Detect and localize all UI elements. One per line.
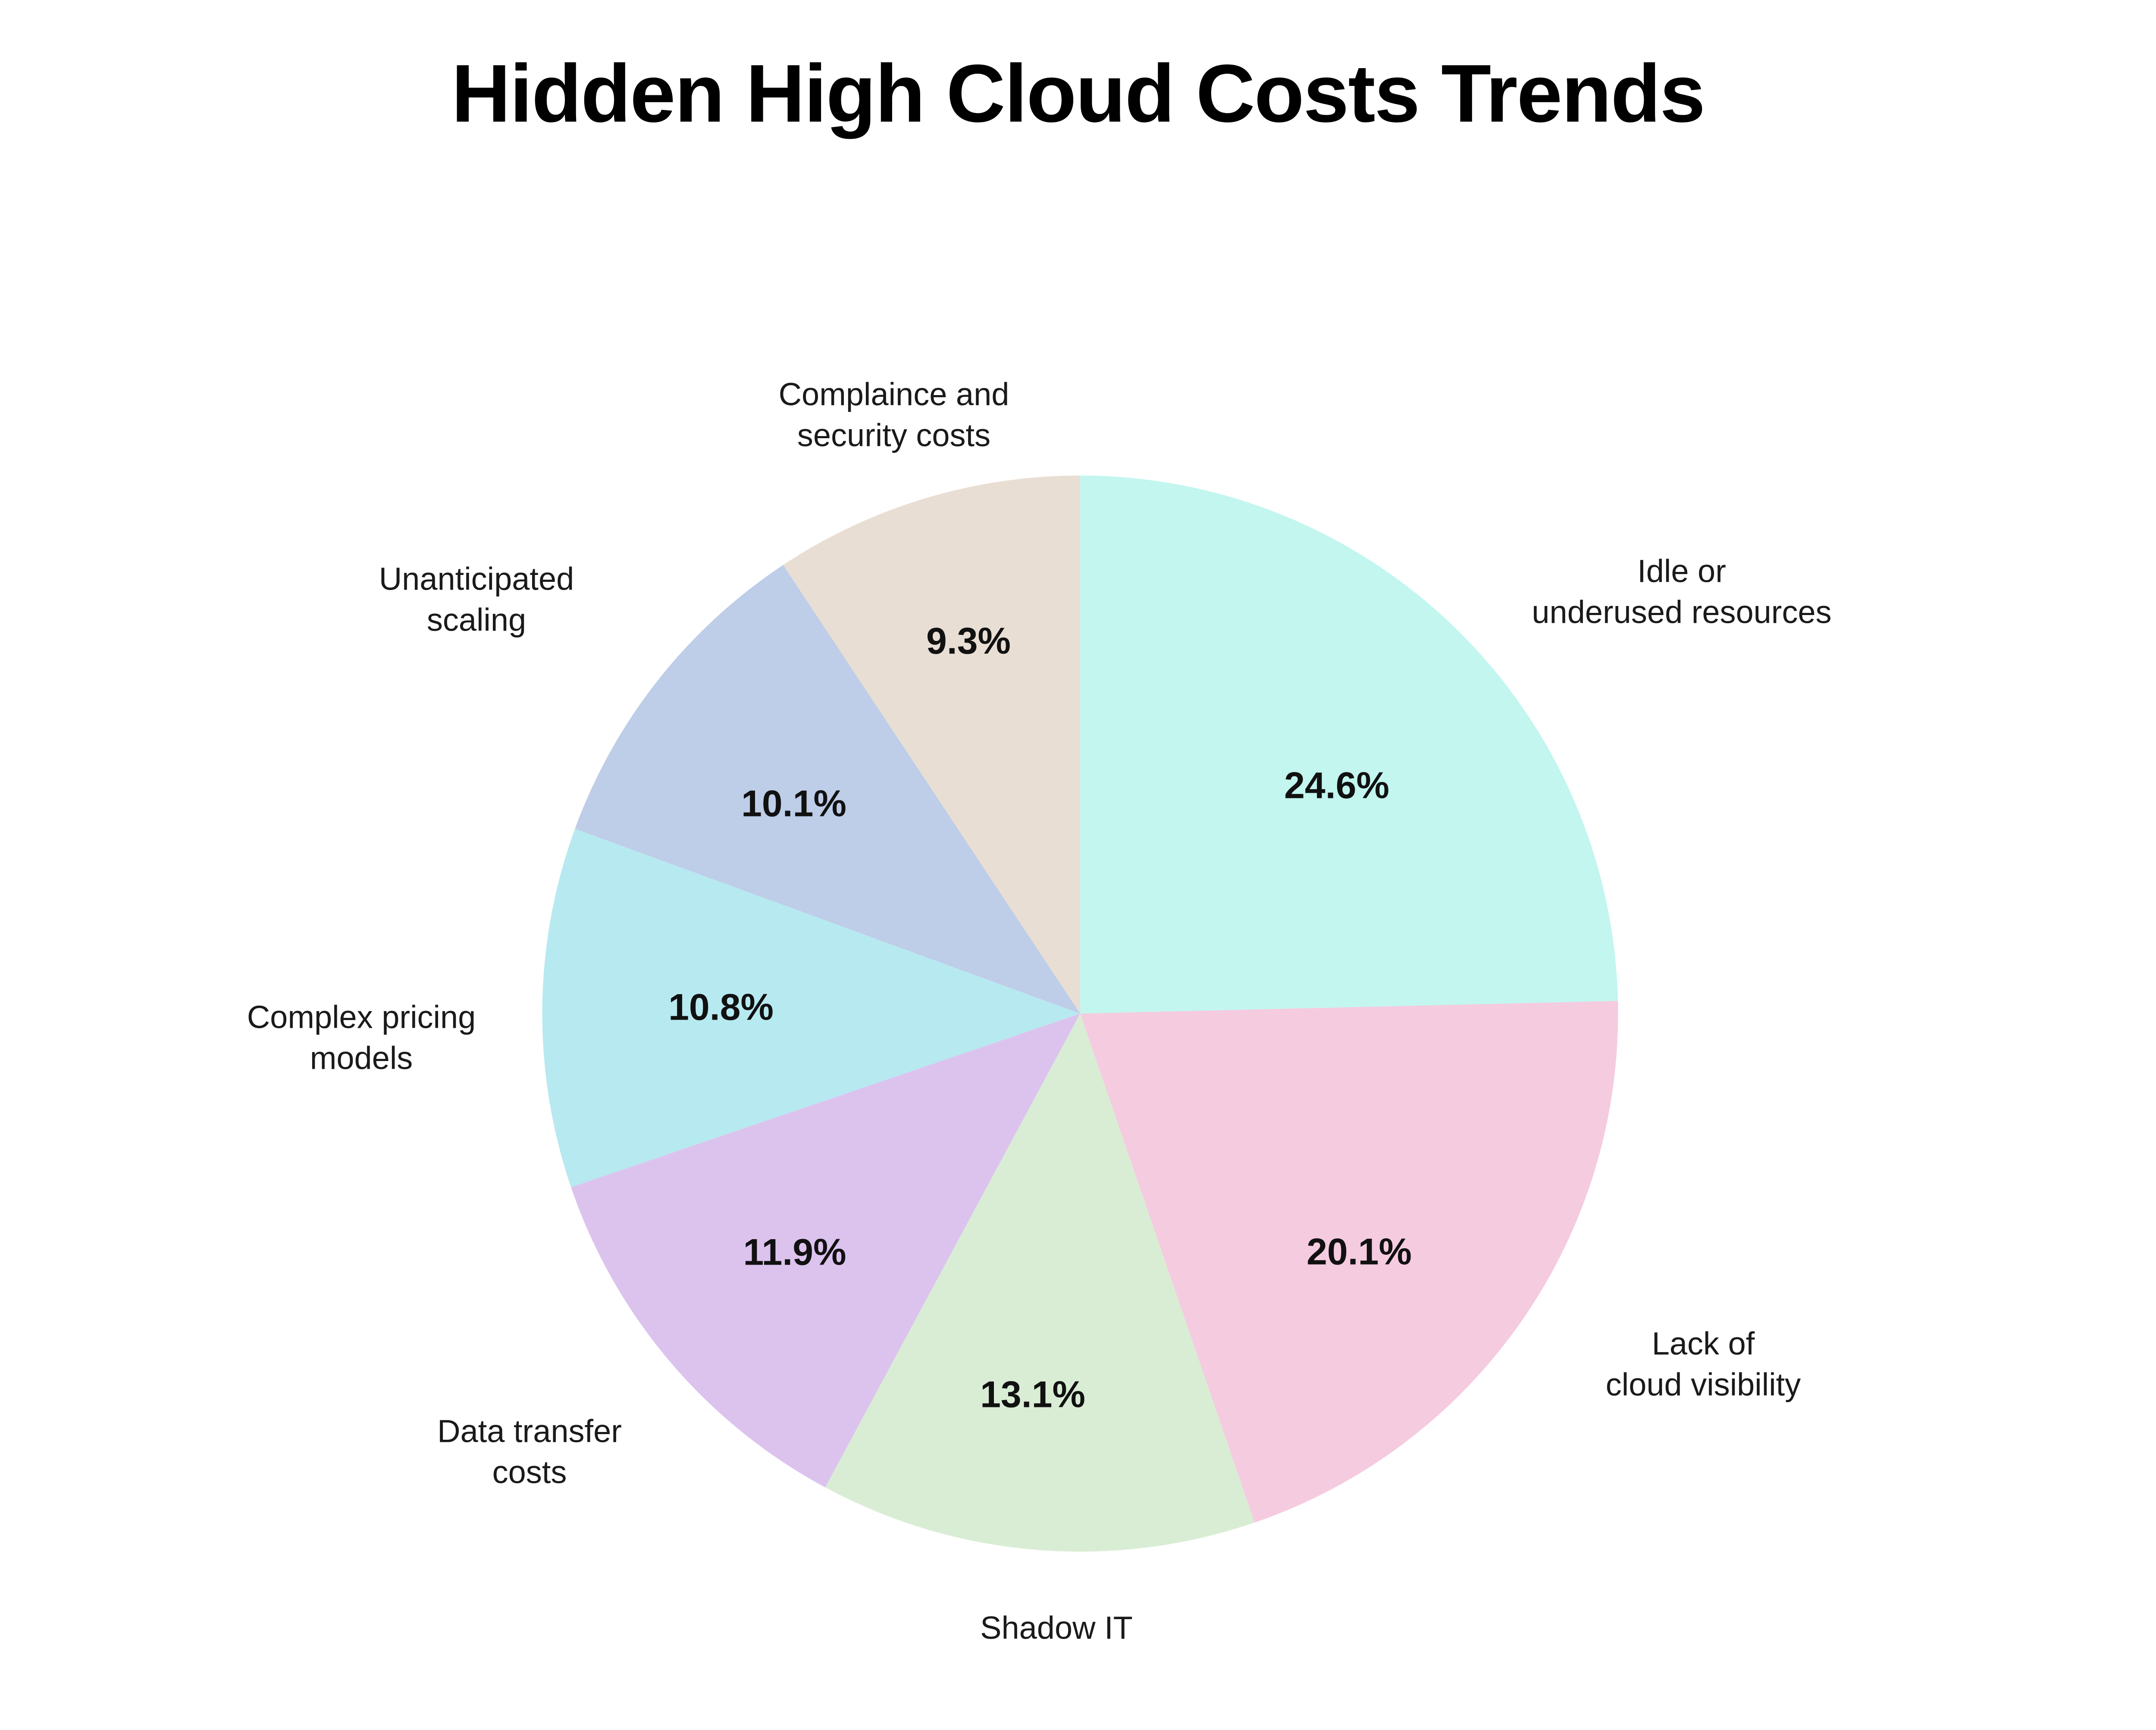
slice-value-compliance: 9.3% <box>926 620 1011 663</box>
category-label-visibility-line1: Lack of <box>1606 1323 1801 1364</box>
category-label-visibility-line2: cloud visibility <box>1606 1364 1801 1405</box>
category-label-shadow-it: Shadow IT <box>980 1608 1133 1649</box>
category-label-shadow-it-line1: Shadow IT <box>980 1608 1133 1649</box>
category-label-compliance: Complaince and security costs <box>779 374 1009 455</box>
slice-value-visibility: 20.1% <box>1307 1231 1412 1274</box>
slice-value-shadow-it: 13.1% <box>980 1374 1085 1416</box>
pie-chart: 24.6% 20.1% 13.1% 11.9% 10.8% 10.1% 9.3%… <box>0 0 2156 1730</box>
category-label-visibility: Lack of cloud visibility <box>1606 1323 1801 1405</box>
category-label-transfer-line2: costs <box>437 1452 622 1493</box>
slice-value-transfer: 11.9% <box>743 1231 846 1274</box>
category-label-pricing-line1: Complex pricing <box>247 997 476 1038</box>
slice-value-pricing: 10.8% <box>668 986 774 1029</box>
category-label-scaling: Unanticipated scaling <box>379 559 574 640</box>
category-label-compliance-line2: security costs <box>779 415 1009 456</box>
category-label-pricing-line2: models <box>247 1038 476 1079</box>
category-label-idle-line2: underused resources <box>1532 592 1831 633</box>
category-label-scaling-line1: Unanticipated <box>379 559 574 600</box>
category-label-transfer: Data transfer costs <box>437 1411 622 1492</box>
category-label-compliance-line1: Complaince and <box>779 374 1009 415</box>
slice-value-idle: 24.6% <box>1284 765 1389 807</box>
category-label-transfer-line1: Data transfer <box>437 1411 622 1452</box>
category-label-idle: Idle or underused resources <box>1532 551 1831 632</box>
slice-value-scaling: 10.1% <box>741 783 846 826</box>
category-label-idle-line1: Idle or <box>1532 551 1831 592</box>
category-label-scaling-line2: scaling <box>379 600 574 641</box>
category-label-pricing: Complex pricing models <box>247 997 476 1078</box>
